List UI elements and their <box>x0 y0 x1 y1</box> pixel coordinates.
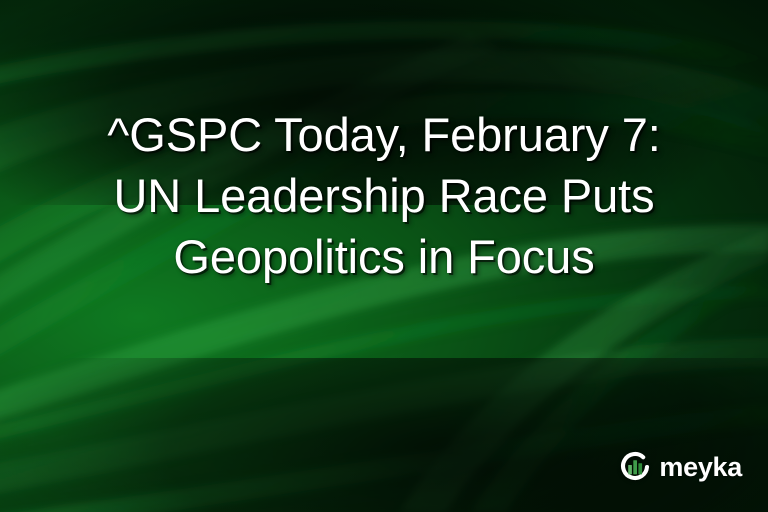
page-title: ^GSPC Today, February 7: UN Leadership R… <box>107 104 660 287</box>
article-cover-card: ^GSPC Today, February 7: UN Leadership R… <box>0 0 768 512</box>
headline-line-2: UN Leadership Race Puts <box>113 169 654 222</box>
headline-line-3: Geopolitics in Focus <box>173 230 594 283</box>
headline-line-1: ^GSPC Today, February 7: <box>107 108 660 161</box>
brand-name: meyka <box>659 454 742 481</box>
headline-container: ^GSPC Today, February 7: UN Leadership R… <box>0 104 768 287</box>
brand-logo[interactable]: meyka <box>618 450 742 484</box>
meyka-circle-bar-chart-icon <box>618 450 652 484</box>
